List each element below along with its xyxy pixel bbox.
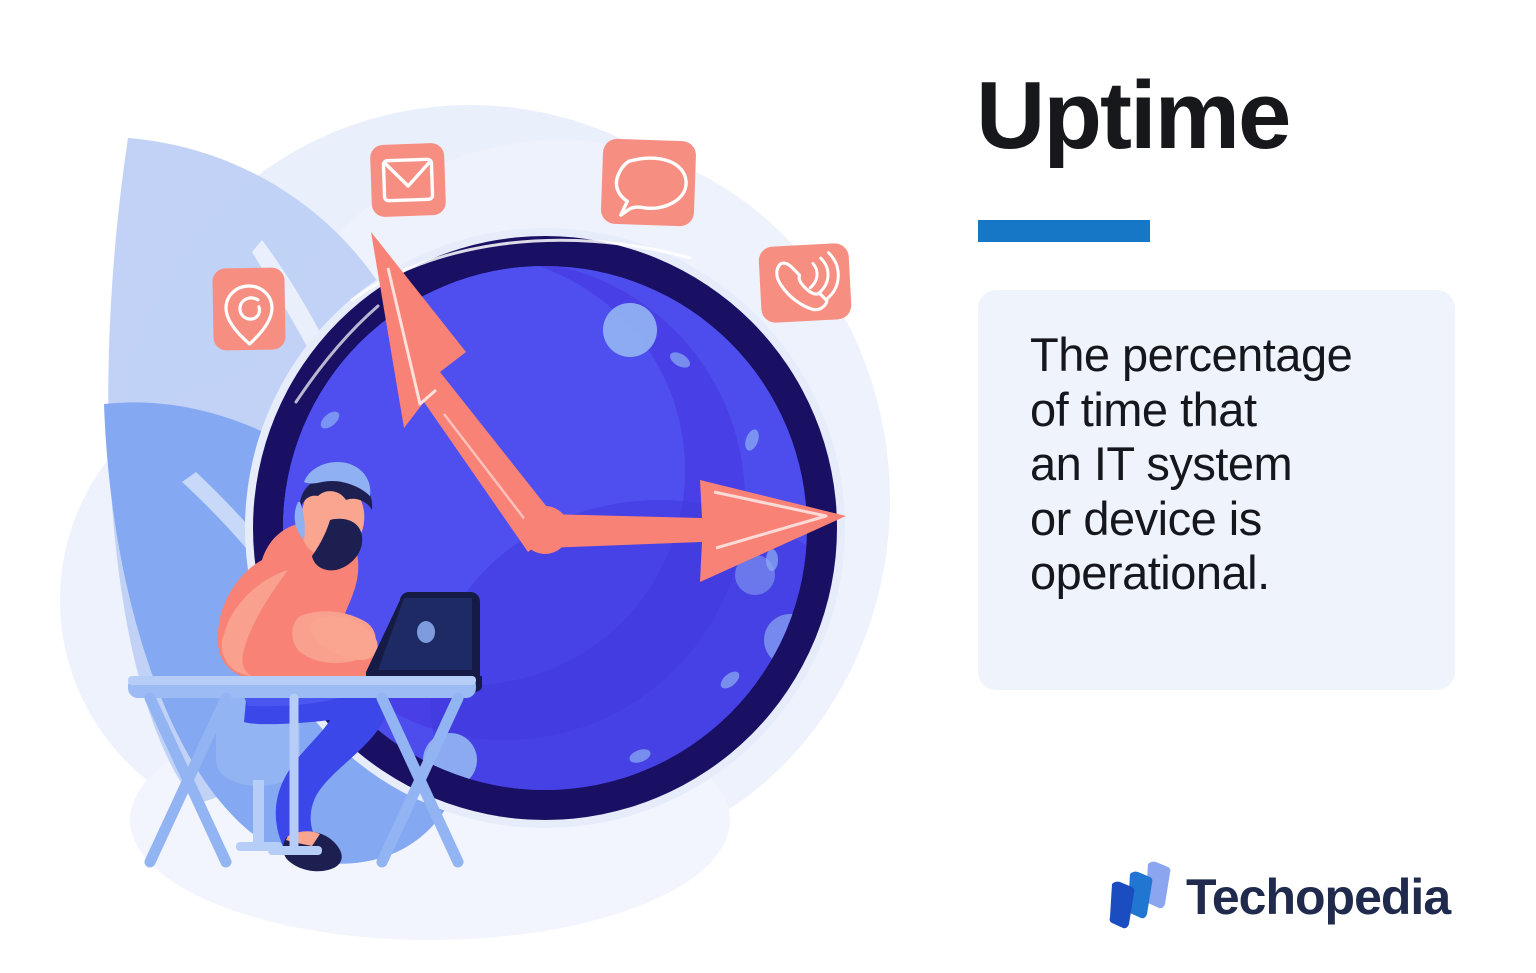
location-pin-icon (212, 267, 285, 350)
techopedia-logo-mark (1108, 860, 1172, 934)
brand-logo[interactable]: Techopedia (1108, 860, 1450, 934)
chat-bubble-icon (601, 138, 697, 226)
page-title: Uptime (976, 68, 1289, 164)
text-panel: Uptime The percentage of time that an IT… (960, 0, 1536, 973)
uptime-illustration (0, 0, 940, 973)
envelope-icon (370, 143, 446, 218)
definition-text: The percentage of time that an IT system… (1030, 328, 1413, 601)
definition-card: The percentage of time that an IT system… (978, 290, 1455, 690)
phone-call-icon (758, 243, 852, 324)
infographic-canvas: Uptime The percentage of time that an IT… (0, 0, 1536, 973)
clock-center-hub (521, 506, 569, 554)
brand-name: Techopedia (1186, 872, 1450, 922)
accent-bar (978, 220, 1150, 242)
